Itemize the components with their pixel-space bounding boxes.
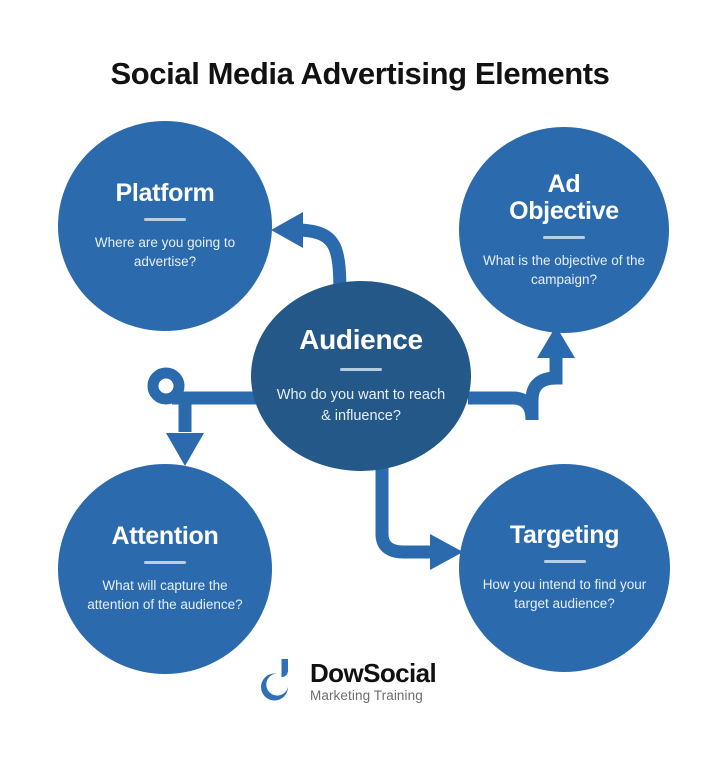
node-audience[interactable]: Audience Who do you want to reach & infl… xyxy=(251,281,471,471)
node-ad-objective-divider xyxy=(543,236,585,239)
node-attention-divider xyxy=(144,561,186,564)
node-platform-divider xyxy=(144,218,186,221)
node-audience-title: Audience xyxy=(299,325,423,355)
node-platform-title: Platform xyxy=(115,180,214,207)
node-targeting-title: Targeting xyxy=(510,522,619,549)
logo-name: DowSocial xyxy=(310,660,436,686)
node-attention-description: What will capture the attention of the a… xyxy=(80,576,250,614)
node-platform[interactable]: Platform Where are you going to advertis… xyxy=(58,121,272,331)
dowsocial-d-mark-icon xyxy=(258,657,302,705)
logo-tagline: Marketing Training xyxy=(310,689,436,703)
node-ad-objective-title-line1: Ad xyxy=(548,170,581,198)
node-ad-objective-title-line2: Objective xyxy=(509,197,619,225)
node-targeting-divider xyxy=(544,560,586,563)
connector-audience-to-targeting xyxy=(382,452,463,570)
connector-audience-to-ad-objective xyxy=(468,326,575,420)
node-audience-divider xyxy=(340,368,382,371)
connector-audience-to-attention xyxy=(153,373,258,466)
node-platform-description: Where are you going to advertise? xyxy=(80,233,250,271)
node-attention[interactable]: Attention What will capture the attentio… xyxy=(58,464,272,674)
node-ad-objective-title: Ad Objective xyxy=(509,171,619,225)
infographic-canvas: Social Media Advertising Elements Platfo… xyxy=(0,0,720,766)
logo-text-block: DowSocial Marketing Training xyxy=(310,660,436,703)
brand-logo: DowSocial Marketing Training xyxy=(258,650,473,712)
node-attention-title: Attention xyxy=(112,523,219,550)
node-targeting[interactable]: Targeting How you intend to find your ta… xyxy=(459,464,670,672)
node-ad-objective-description: What is the objective of the campaign? xyxy=(479,251,649,289)
node-audience-description: Who do you want to reach & influence? xyxy=(273,385,449,426)
node-ad-objective[interactable]: Ad Objective What is the objective of th… xyxy=(459,127,669,333)
node-targeting-description: How you intend to find your target audie… xyxy=(480,575,650,613)
